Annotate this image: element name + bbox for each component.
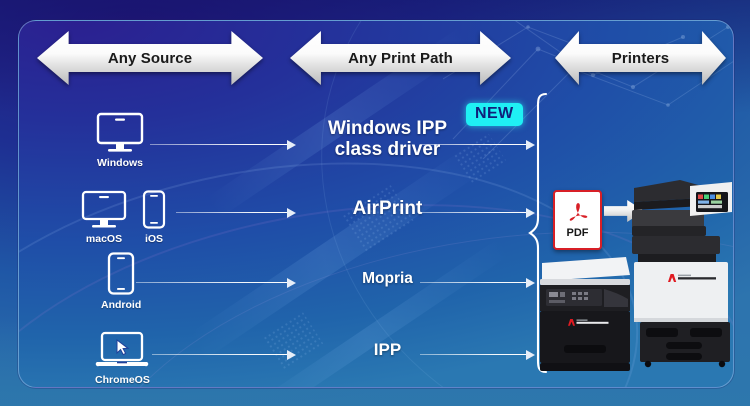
decorative-streak bbox=[190, 144, 489, 359]
flow-line-stroke bbox=[150, 144, 287, 146]
flow-line-apple bbox=[176, 207, 296, 218]
arrowhead-icon bbox=[287, 278, 296, 288]
banner-label: Any Source bbox=[108, 50, 192, 67]
printer-mfp-small bbox=[538, 253, 634, 375]
new-badge: NEW bbox=[466, 103, 523, 126]
printer-mfp-large bbox=[628, 172, 736, 368]
source-device-label: macOS bbox=[86, 233, 122, 245]
banner-any-source: Any Source bbox=[37, 31, 263, 85]
flow-line-stroke bbox=[136, 282, 287, 284]
diagram-canvas: Any Source Any Print Path Printers Windo… bbox=[0, 0, 750, 406]
flow-line-ipp-out bbox=[420, 349, 535, 360]
banner-printers: Printers bbox=[555, 31, 726, 85]
source-device-chromeos: ChromeOS bbox=[95, 331, 150, 386]
desktop-monitor-icon bbox=[80, 190, 128, 230]
arrowhead-icon bbox=[287, 208, 296, 218]
flow-line-stroke bbox=[420, 144, 526, 146]
acrobat-swirl-icon bbox=[565, 200, 591, 226]
decorative-streak bbox=[249, 239, 509, 388]
smartphone-icon bbox=[106, 252, 136, 296]
flow-line-mopria-out bbox=[420, 277, 535, 288]
flow-line-airprint-out bbox=[420, 207, 535, 218]
arrowhead-icon bbox=[287, 140, 296, 150]
source-device-ios: iOS bbox=[141, 190, 167, 245]
source-device-macos: macOS bbox=[80, 190, 128, 245]
source-device-label: Android bbox=[101, 299, 141, 311]
source-device-group-apple: macOS iOS bbox=[80, 190, 167, 245]
source-device-windows: Windows bbox=[95, 112, 145, 169]
source-device-label: iOS bbox=[145, 233, 163, 245]
laptop-cursor-icon bbox=[95, 331, 149, 371]
flow-line-stroke bbox=[420, 354, 526, 356]
flow-line-windows-ipp-out bbox=[420, 139, 535, 150]
pdf-label: PDF bbox=[567, 227, 589, 239]
source-device-label: ChromeOS bbox=[95, 374, 150, 386]
banner-any-print-path: Any Print Path bbox=[290, 31, 511, 85]
flow-line-android bbox=[136, 277, 296, 288]
smartphone-icon bbox=[141, 190, 167, 230]
source-device-label: Windows bbox=[97, 157, 143, 169]
flow-line-stroke bbox=[420, 282, 526, 284]
banner-label: Printers bbox=[612, 50, 670, 67]
flow-line-stroke bbox=[420, 212, 526, 214]
flow-line-chromeos bbox=[152, 349, 296, 360]
flow-line-windows bbox=[150, 139, 296, 150]
flow-line-stroke bbox=[152, 354, 287, 356]
banner-label: Any Print Path bbox=[348, 50, 453, 67]
flow-line-stroke bbox=[176, 212, 287, 214]
desktop-monitor-icon bbox=[95, 112, 145, 154]
pdf-document-icon: PDF bbox=[553, 190, 602, 250]
arrowhead-icon bbox=[287, 350, 296, 360]
